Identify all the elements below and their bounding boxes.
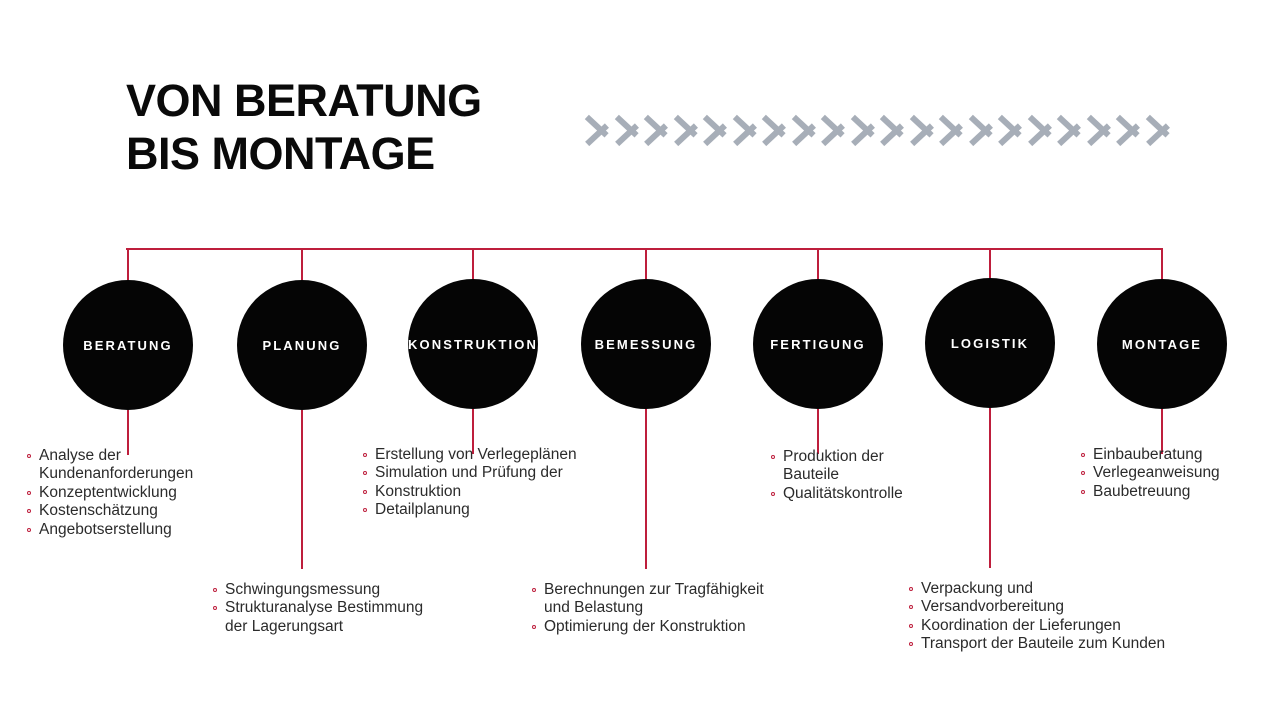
list-item: Simulation und Prüfung der [362, 464, 612, 482]
list-item: Kostenschätzung [26, 502, 256, 520]
timeline-node-label: BEMESSUNG [595, 337, 698, 352]
chevron-right-icon [849, 102, 879, 158]
chevron-decoration [583, 101, 1173, 159]
list-item: Versandvorbereitung [908, 598, 1198, 616]
timeline-stem-above [301, 249, 303, 280]
step-details-logistik: Verpackung undVersandvorbereitungKoordin… [908, 580, 1198, 654]
list-item: Erstellung von Verlegeplänen [362, 446, 612, 464]
timeline-node-montage[interactable]: MONTAGE [1097, 279, 1227, 409]
chevron-right-icon [908, 102, 938, 158]
timeline-node-beratung[interactable]: BERATUNG [63, 280, 193, 410]
list-item: Konzeptentwicklung [26, 484, 256, 502]
step-details-fertigung: Produktion der BauteileQualitätskontroll… [770, 448, 970, 503]
list-item: Koordination der Lieferungen [908, 617, 1198, 635]
list-item: Produktion der Bauteile [770, 448, 970, 485]
timeline-stem-above [127, 249, 129, 280]
timeline-node-logistik[interactable]: LOGISTIK [925, 278, 1055, 408]
list-item: Strukturanalyse Bestimmung der Lagerungs… [212, 599, 462, 636]
timeline-stem-above [1161, 249, 1163, 279]
chevron-right-icon [731, 102, 761, 158]
detail-list: EinbauberatungVerlegeanweisungBaubetreuu… [1080, 446, 1280, 501]
timeline-node-label: LOGISTIK [951, 336, 1029, 351]
timeline-node-label: KONSTRUKTION [408, 337, 538, 352]
timeline-stem-above [989, 249, 991, 278]
slide-canvas: VON BERATUNG BIS MONTAGE BERATUNGPLANUNG… [0, 0, 1280, 720]
timeline-node-bemessung[interactable]: BEMESSUNG [581, 279, 711, 409]
step-details-beratung: Analyse der KundenanforderungenKonzepten… [26, 447, 256, 539]
timeline-node-label: MONTAGE [1122, 337, 1202, 352]
timeline-stem-above [817, 249, 819, 279]
timeline-stem-below [301, 410, 303, 569]
list-item: Analyse der Kundenanforderungen [26, 447, 256, 484]
chevron-right-icon [1055, 102, 1085, 158]
chevron-right-icon [967, 102, 997, 158]
timeline-node-planung[interactable]: PLANUNG [237, 280, 367, 410]
detail-list: Erstellung von VerlegeplänenSimulation u… [362, 446, 612, 520]
chevron-right-icon [1144, 102, 1174, 158]
step-details-montage: EinbauberatungVerlegeanweisungBaubetreuu… [1080, 446, 1280, 501]
chevron-right-icon [672, 102, 702, 158]
page-title: VON BERATUNG BIS MONTAGE [126, 74, 556, 180]
detail-list: Berechnungen zur Tragfähigkeit und Belas… [531, 581, 801, 636]
step-details-konstruktion: Erstellung von VerlegeplänenSimulation u… [362, 446, 612, 520]
detail-list: Produktion der BauteileQualitätskontroll… [770, 448, 970, 503]
timeline-node-konstruktion[interactable]: KONSTRUKTION [408, 279, 538, 409]
chevron-right-icon [613, 102, 643, 158]
list-item: Angebotserstellung [26, 521, 256, 539]
chevron-right-icon [1026, 102, 1056, 158]
detail-list: Verpackung undVersandvorbereitungKoordin… [908, 580, 1198, 654]
timeline-node-fertigung[interactable]: FERTIGUNG [753, 279, 883, 409]
chevron-right-icon [996, 102, 1026, 158]
timeline-stem-above [472, 249, 474, 279]
chevron-right-icon [1085, 102, 1115, 158]
list-item: Transport der Bauteile zum Kunden [908, 635, 1198, 653]
list-item: Verlegeanweisung [1080, 464, 1280, 482]
step-details-bemessung: Berechnungen zur Tragfähigkeit und Belas… [531, 581, 801, 636]
chevron-right-icon [642, 102, 672, 158]
list-item: Schwingungsmessung [212, 581, 462, 599]
list-item: Einbauberatung [1080, 446, 1280, 464]
timeline-node-label: BERATUNG [83, 338, 173, 353]
timeline-stem-below [645, 409, 647, 569]
timeline-stem-below [989, 408, 991, 568]
detail-list: Analyse der KundenanforderungenKonzepten… [26, 447, 256, 539]
list-item: Baubetreuung [1080, 483, 1280, 501]
chevron-right-icon [1114, 102, 1144, 158]
list-item: Verpackung und [908, 580, 1198, 598]
timeline-node-label: PLANUNG [263, 338, 342, 353]
detail-list: SchwingungsmessungStrukturanalyse Bestim… [212, 581, 462, 636]
timeline-stem-above [645, 249, 647, 279]
list-item: Detailplanung [362, 501, 612, 519]
chevron-right-icon [583, 102, 613, 158]
timeline-node-label: FERTIGUNG [770, 337, 865, 352]
chevron-right-icon [760, 102, 790, 158]
chevron-right-icon [819, 102, 849, 158]
chevron-right-icon [937, 102, 967, 158]
list-item: Konstruktion [362, 483, 612, 501]
step-details-planung: SchwingungsmessungStrukturanalyse Bestim… [212, 581, 462, 636]
chevron-right-icon [701, 102, 731, 158]
list-item: Berechnungen zur Tragfähigkeit und Belas… [531, 581, 801, 618]
chevron-right-icon [790, 102, 820, 158]
chevron-right-icon [878, 102, 908, 158]
list-item: Optimierung der Konstruktion [531, 618, 801, 636]
list-item: Qualitätskontrolle [770, 485, 970, 503]
